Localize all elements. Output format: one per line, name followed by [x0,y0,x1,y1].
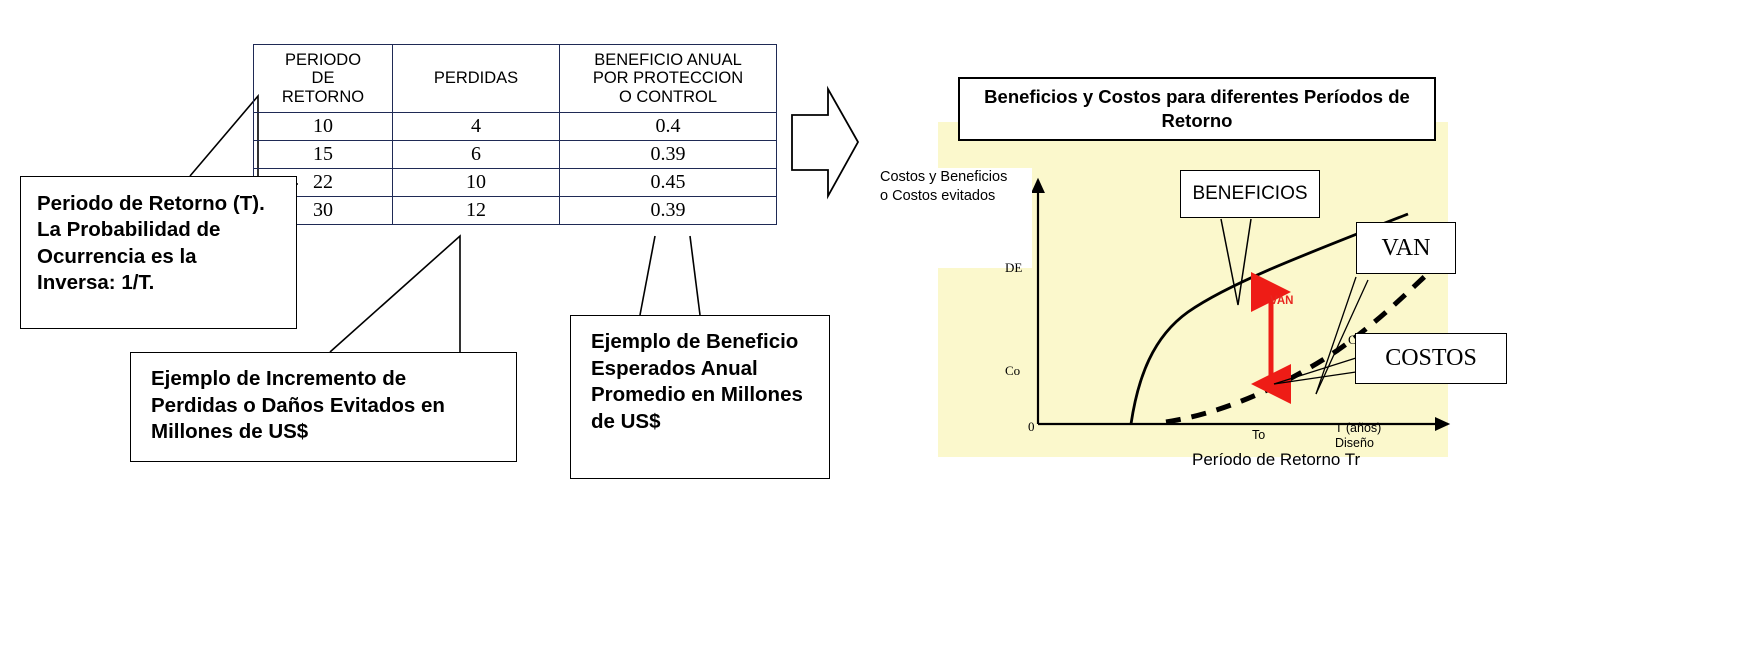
header-line: POR PROTECCION [568,69,768,87]
x-axis-label-line: T (años) [1335,421,1381,436]
van-inline-label: VAN [1270,295,1293,307]
header-line: BENEFICIO ANUAL [568,51,768,69]
callout-periodo-retorno: Periodo de Retorno (T). La Probabilidad … [20,176,297,329]
label-box-beneficios: BENEFICIOS [1180,170,1320,218]
header-beneficio-anual: BENEFICIO ANUAL POR PROTECCION O CONTROL [560,45,777,113]
cell-perdidas: 12 [393,197,560,225]
cell-beneficio: 0.39 [560,197,777,225]
returns-table: PERIODO DE RETORNO PERDIDAS BENEFICIO AN… [253,44,777,225]
cell-perdidas: 4 [393,113,560,141]
header-periodo-retorno: PERIODO DE RETORNO [254,45,393,113]
cell-perdidas: 6 [393,141,560,169]
x-axis-label: T (años) Diseño [1335,421,1381,451]
right-arrow-icon [790,85,860,200]
label-box-van: VAN [1356,222,1456,274]
callout-perdidas: Ejemplo de Incremento de Perdidas o Daño… [130,352,517,462]
label-box-costos: COSTOS [1355,333,1507,384]
y-tick-de: DE [1005,260,1022,276]
origin-tick-zero: 0 [1028,419,1035,435]
callout-beneficio: Ejemplo de Beneficio Esperados Anual Pro… [570,315,830,479]
header-perdidas: PERDIDAS [393,45,560,113]
chart-title: Beneficios y Costos para diferentes Perí… [958,77,1436,141]
y-axis-caption-line: Costos y Beneficios [880,168,1032,187]
x-tick-to: To [1252,428,1265,442]
cell-beneficio: 0.45 [560,169,777,197]
header-line: PERIODO [262,51,384,69]
header-line: O CONTROL [568,88,768,106]
cell-beneficio: 0.4 [560,113,777,141]
table-row: 22 10 0.45 [254,169,777,197]
y-axis-caption-line: o Costos evitados [880,187,1032,206]
table-row: 30 12 0.39 [254,197,777,225]
table-row: 10 4 0.4 [254,113,777,141]
cell-periodo: 10 [254,113,393,141]
chart-bottom-caption: Período de Retorno Tr [1192,450,1360,470]
y-tick-co: Co [1005,363,1020,379]
table-header-row: PERIODO DE RETORNO PERDIDAS BENEFICIO AN… [254,45,777,113]
y-axis-caption: Costos y Beneficios o Costos evitados [880,168,1032,268]
cell-periodo: 15 [254,141,393,169]
header-line: DE [262,69,384,87]
cell-beneficio: 0.39 [560,141,777,169]
header-line: PERDIDAS [401,69,551,87]
x-axis-label-line: Diseño [1335,436,1381,451]
cell-perdidas: 10 [393,169,560,197]
header-line: RETORNO [262,88,384,106]
table-row: 15 6 0.39 [254,141,777,169]
